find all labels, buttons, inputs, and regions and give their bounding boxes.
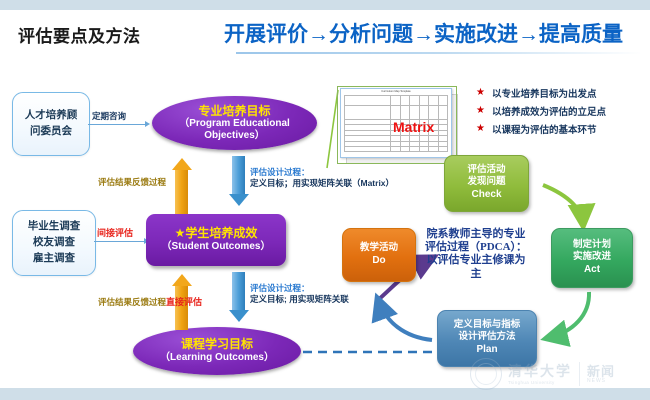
slide-canvas: 评估要点及方法 开展评价→分析问题→实施改进→提高质量 xyxy=(0,0,650,400)
lo-cn-label: 课程学习目标 xyxy=(181,338,253,352)
advisory-committee-box[interactable]: 人才培养顾 问委员会 xyxy=(12,92,90,156)
so-cn-label: ★学生培养成效 xyxy=(175,227,258,241)
watermark-divider xyxy=(579,362,580,386)
design-label-1-line2: 定义目标；用实现矩阵关联（Matrix） xyxy=(250,178,394,189)
watermark-news: 新闻 NEWS xyxy=(587,365,615,384)
star-icon: ★ xyxy=(476,124,485,134)
survey-box[interactable]: 毕业生调查 校友调查 雇主调查 xyxy=(12,210,96,276)
advisory-committee-line2: 问委员会 xyxy=(25,124,78,140)
pdca-caption-line2: 评估过程（PDCA）： xyxy=(417,241,535,254)
bullet-text-2: 以培养成效为评估的立足点 xyxy=(492,104,606,118)
peo-cn-label: 专业培养目标 xyxy=(198,105,270,119)
feedback-label-1: 评估结果反馈过程 xyxy=(98,176,166,188)
list-item: ★ 以专业培养目标为出发点 xyxy=(476,86,606,100)
node-learning-outcomes[interactable]: 课程学习目标 （Learning Outcomes） xyxy=(133,327,301,375)
design-process-label-1: 评估设计过程： 定义目标；用实现矩阵关联（Matrix） xyxy=(250,167,394,190)
watermark-university-en: Tsinghua University xyxy=(508,380,572,385)
survey-line2: 校友调查 xyxy=(28,235,81,251)
list-item: ★ 以课程为评估的基本环节 xyxy=(476,122,606,136)
pdca-caption: 院系教师主导的专业 评估过程（PDCA）： 以评估专业主修课为 主 xyxy=(417,228,535,281)
node-student-outcomes[interactable]: ★学生培养成效 （Student Outcomes） xyxy=(146,214,286,266)
design-label-2-line2: 定义目标; 用实现矩阵关联 xyxy=(250,294,349,305)
feedback-arrow-up-1 xyxy=(175,158,188,214)
page-title: 评估要点及方法 xyxy=(18,22,141,47)
watermark-university: 清华大学 Tsinghua University xyxy=(508,364,572,385)
plan-line2: 设计评估方法 xyxy=(458,332,515,344)
plan-line3: Plan xyxy=(476,344,497,357)
lo-en-label: （Learning Outcomes） xyxy=(160,352,274,364)
connector-label-2: 间接评估 xyxy=(97,226,133,239)
node-program-educational-objectives[interactable]: 专业培养目标 （Program Educational Objectives） xyxy=(152,96,317,150)
design-process-label-2: 评估设计过程： 定义目标; 用实现矩阵关联 xyxy=(250,283,349,306)
act-line2: 实施改进 xyxy=(573,252,611,264)
key-points-list: ★ 以专业培养目标为出发点 ★ 以培养成效为评估的立足点 ★ 以课程为评估的基本… xyxy=(476,86,606,140)
connector-line-1 xyxy=(88,124,145,125)
design-label-2-line1: 评估设计过程： xyxy=(250,283,349,294)
pdca-do-box[interactable]: 教学活动 Do xyxy=(342,228,416,282)
matrix-thumbnail[interactable]: Curriculum Map Template Matrix xyxy=(340,88,458,164)
pdca-caption-line3: 以评估专业主修课为 xyxy=(417,254,535,267)
pdca-caption-line4: 主 xyxy=(417,268,535,281)
bullet-text-3: 以课程为评估的基本环节 xyxy=(492,122,597,136)
heading-divider xyxy=(236,52,642,54)
pdca-act-box[interactable]: 制定计划 实施改进 Act xyxy=(551,228,633,288)
watermark-news-cn: 新闻 xyxy=(587,365,615,378)
check-line2: 发现问题 xyxy=(467,177,505,189)
connector-arrows xyxy=(0,0,650,400)
bullet-text-1: 以专业培养目标为出发点 xyxy=(492,86,597,100)
matrix-green-frame xyxy=(337,86,457,164)
connector-arrow-1 xyxy=(145,121,150,127)
star-icon: ★ xyxy=(476,106,485,116)
check-line1: 评估活动 xyxy=(467,165,505,177)
watermark: 清华大学 Tsinghua University 新闻 NEWS xyxy=(470,356,645,392)
connector-label-1: 定期咨询 xyxy=(92,110,126,122)
advisory-committee-line1: 人才培养顾 xyxy=(25,108,78,124)
design-arrow-down-1 xyxy=(232,156,245,206)
main-heading: 开展评价→分析问题→实施改进→提高质量 xyxy=(224,18,623,48)
peo-en-label-1: （Program Educational xyxy=(179,118,290,130)
pdca-check-box[interactable]: 评估活动 发现问题 Check xyxy=(444,155,529,212)
design-arrow-down-2 xyxy=(232,272,245,322)
university-seal-icon xyxy=(470,358,502,390)
do-line1: 教学活动 xyxy=(360,243,398,255)
list-item: ★ 以培养成效为评估的立足点 xyxy=(476,104,606,118)
check-line3: Check xyxy=(471,189,501,202)
pdca-caption-line1: 院系教师主导的专业 xyxy=(417,228,535,241)
connector-line-2 xyxy=(94,241,144,242)
survey-line1: 毕业生调查 xyxy=(28,219,81,235)
watermark-university-cn: 清华大学 xyxy=(508,364,572,378)
act-line1: 制定计划 xyxy=(573,240,611,252)
survey-line3: 雇主调查 xyxy=(28,251,81,267)
so-en-label: （Student Outcomes） xyxy=(162,241,271,253)
act-line3: Act xyxy=(584,264,600,277)
star-icon: ★ xyxy=(476,88,485,98)
design-label-1-line1: 评估设计过程： xyxy=(250,167,394,178)
peo-en-label-2: Objectives） xyxy=(204,130,265,142)
direct-assessment-label: 直接评估 xyxy=(166,295,202,308)
feedback-label-2: 评估结果反馈过程 xyxy=(98,296,166,308)
do-line2: Do xyxy=(372,255,385,268)
plan-line1: 定义目标与指标 xyxy=(454,320,521,332)
top-band xyxy=(0,0,650,10)
